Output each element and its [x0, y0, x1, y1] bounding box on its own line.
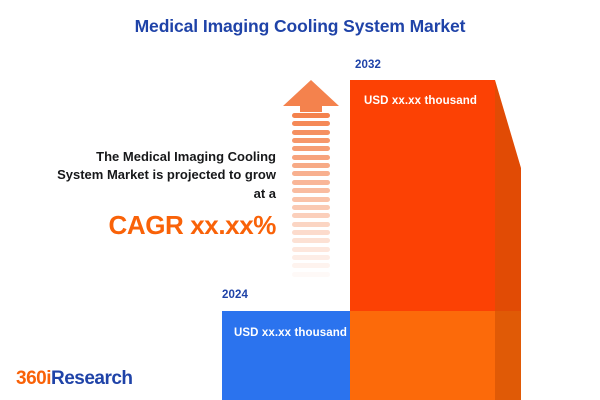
bar-value-2032: USD xx.xx thousand	[364, 95, 477, 107]
arrow-segment	[292, 280, 330, 285]
infographic-canvas: Medical Imaging Cooling System Market 20…	[0, 0, 600, 400]
brand-logo: 360iResearch	[16, 368, 133, 390]
arrow-segment	[292, 247, 330, 252]
arrow-segment	[292, 272, 330, 277]
arrow-segment	[292, 171, 330, 176]
bar-2024-front-face	[222, 311, 368, 400]
arrow-segment	[292, 113, 330, 118]
arrow-segment	[292, 163, 330, 168]
arrow-segment	[292, 238, 330, 243]
arrow-segment	[292, 180, 330, 185]
arrow-up-icon	[283, 80, 339, 112]
bar-label-2024: 2024	[222, 289, 248, 301]
bar-2032-front-face-lower	[350, 311, 495, 400]
arrow-segment	[292, 121, 330, 126]
arrow-segment	[292, 205, 330, 210]
arrow-segment	[292, 263, 330, 268]
arrow-segment	[292, 197, 330, 202]
logo-text-360i: 360i	[16, 368, 51, 389]
growth-arrow	[283, 80, 339, 292]
arrow-segment	[292, 213, 330, 218]
arrow-segment	[292, 130, 330, 135]
bar-value-2024: USD xx.xx thousand	[234, 327, 347, 339]
arrow-segment	[292, 255, 330, 260]
statement-line-2: System Market is projected to grow	[57, 167, 276, 182]
statement-text: The Medical Imaging Cooling System Marke…	[18, 148, 276, 203]
bar-2032-side-face-lower	[495, 311, 521, 400]
bar-label-2032: 2032	[355, 59, 381, 71]
arrow-segment	[292, 230, 330, 235]
arrow-segment	[292, 146, 330, 151]
arrow-segment	[292, 222, 330, 227]
cagr-statement: The Medical Imaging Cooling System Marke…	[18, 148, 276, 240]
arrow-segment	[292, 155, 330, 160]
logo-text-research: Research	[51, 368, 133, 389]
statement-line-3: at a	[254, 186, 276, 201]
arrow-segment	[292, 138, 330, 143]
arrow-segment	[292, 188, 330, 193]
cagr-value: CAGR xx.xx%	[18, 212, 276, 239]
statement-line-1: The Medical Imaging Cooling	[96, 149, 276, 164]
arrow-gradient-segments	[283, 113, 339, 292]
